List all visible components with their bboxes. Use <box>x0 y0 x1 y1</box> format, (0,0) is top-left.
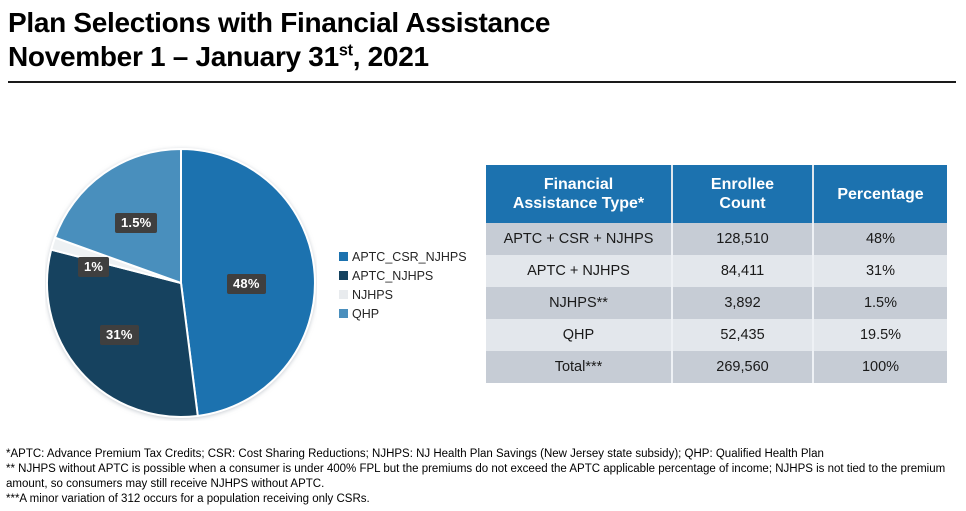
title-line-1: Plan Selections with Financial Assistanc… <box>8 6 958 40</box>
cell-type: QHP <box>486 319 672 351</box>
header-line: Enrollee <box>679 175 806 194</box>
cell-count: 52,435 <box>672 319 813 351</box>
title-line-2-year: , 2021 <box>353 41 429 72</box>
pie-chart: 48% 31% 1% 1.5% <box>45 145 317 421</box>
legend-item-aptc-csr-njhps[interactable]: APTC_CSR_NJHPS <box>339 247 479 266</box>
title-superscript: st <box>339 42 353 60</box>
cell-count: 3,892 <box>672 287 813 319</box>
legend-item-qhp[interactable]: QHP <box>339 304 479 323</box>
legend-item-aptc-njhps[interactable]: APTC_NJHPS <box>339 266 479 285</box>
pie-chart-svg <box>45 145 317 421</box>
footnote-aptc-definitions: *APTC: Advance Premium Tax Credits; CSR:… <box>6 447 958 462</box>
title-line-2-text: November 1 – January 31 <box>8 41 339 72</box>
table-row-total: Total*** 269,560 100% <box>486 351 947 383</box>
cell-percentage: 100% <box>813 351 947 383</box>
legend-label: QHP <box>352 307 379 321</box>
legend-swatch-icon <box>339 290 348 299</box>
header-line: Financial <box>492 175 665 194</box>
cell-percentage: 48% <box>813 223 947 255</box>
table-row: QHP 52,435 19.5% <box>486 319 947 351</box>
table-row: APTC + NJHPS 84,411 31% <box>486 255 947 287</box>
title-divider <box>8 81 956 83</box>
cell-type: NJHPS** <box>486 287 672 319</box>
cell-percentage: 31% <box>813 255 947 287</box>
cell-type: APTC + CSR + NJHPS <box>486 223 672 255</box>
legend-item-njhps[interactable]: NJHPS <box>339 285 479 304</box>
table-row: APTC + CSR + NJHPS 128,510 48% <box>486 223 947 255</box>
header-line: Count <box>679 194 806 213</box>
legend-swatch-icon <box>339 252 348 261</box>
header-line: Percentage <box>820 185 941 204</box>
column-header-financial-assistance-type: Financial Assistance Type* <box>486 165 672 223</box>
pie-data-label-aptc-csr-njhps: 48% <box>227 274 266 294</box>
table-row: NJHPS** 3,892 1.5% <box>486 287 947 319</box>
legend-swatch-icon <box>339 309 348 318</box>
pie-data-label-njhps: 1% <box>78 257 109 277</box>
column-header-percentage: Percentage <box>813 165 947 223</box>
cell-type: APTC + NJHPS <box>486 255 672 287</box>
cell-percentage: 1.5% <box>813 287 947 319</box>
pie-slices <box>47 149 315 417</box>
page-title: Plan Selections with Financial Assistanc… <box>8 6 958 74</box>
legend-label: APTC_NJHPS <box>352 269 433 283</box>
chart-legend: APTC_CSR_NJHPS APTC_NJHPS NJHPS QHP <box>339 247 479 323</box>
table-header: Financial Assistance Type* Enrollee Coun… <box>486 165 947 223</box>
cell-type: Total*** <box>486 351 672 383</box>
footnote-total-variation: ***A minor variation of 312 occurs for a… <box>6 492 958 507</box>
table-body: APTC + CSR + NJHPS 128,510 48% APTC + NJ… <box>486 223 947 383</box>
enrollment-table: Financial Assistance Type* Enrollee Coun… <box>486 165 947 383</box>
cell-count: 269,560 <box>672 351 813 383</box>
column-header-enrollee-count: Enrollee Count <box>672 165 813 223</box>
footnotes: *APTC: Advance Premium Tax Credits; CSR:… <box>6 447 958 507</box>
table-header-row: Financial Assistance Type* Enrollee Coun… <box>486 165 947 223</box>
title-line-2: November 1 – January 31st, 2021 <box>8 40 958 74</box>
legend-swatch-icon <box>339 271 348 280</box>
legend-label: APTC_CSR_NJHPS <box>352 250 467 264</box>
cell-count: 84,411 <box>672 255 813 287</box>
header-line: Assistance Type* <box>492 194 665 213</box>
cell-count: 128,510 <box>672 223 813 255</box>
pie-data-label-qhp: 1.5% <box>115 213 157 233</box>
pie-data-label-aptc-njhps: 31% <box>100 325 139 345</box>
cell-percentage: 19.5% <box>813 319 947 351</box>
footnote-njhps-explanation: ** NJHPS without APTC is possible when a… <box>6 462 958 492</box>
legend-label: NJHPS <box>352 288 393 302</box>
